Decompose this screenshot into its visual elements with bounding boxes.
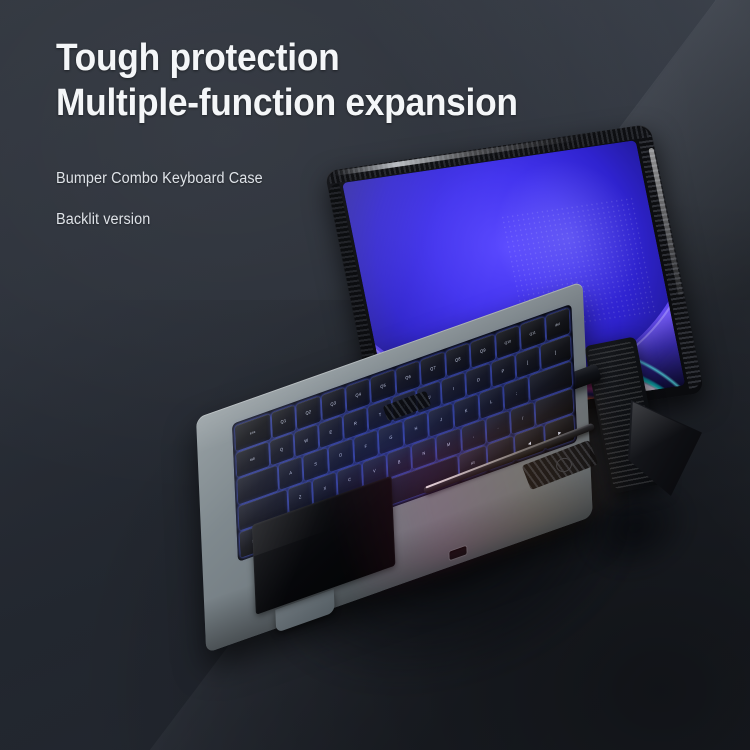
subtitle-line-2: Backlit version (56, 211, 518, 229)
headline-line-1: Tough protection (56, 36, 518, 81)
subtitle-line-1: Bumper Combo Keyboard Case (56, 170, 518, 188)
banner-copy: Tough protection Multiple-function expan… (56, 36, 552, 229)
headline-line-2: Multiple-function expansion (56, 81, 518, 126)
product-banner: escQ1Q2Q3Q4Q5Q6Q7Q8Q9Q10Q11deltabQWERTYU… (0, 0, 750, 750)
